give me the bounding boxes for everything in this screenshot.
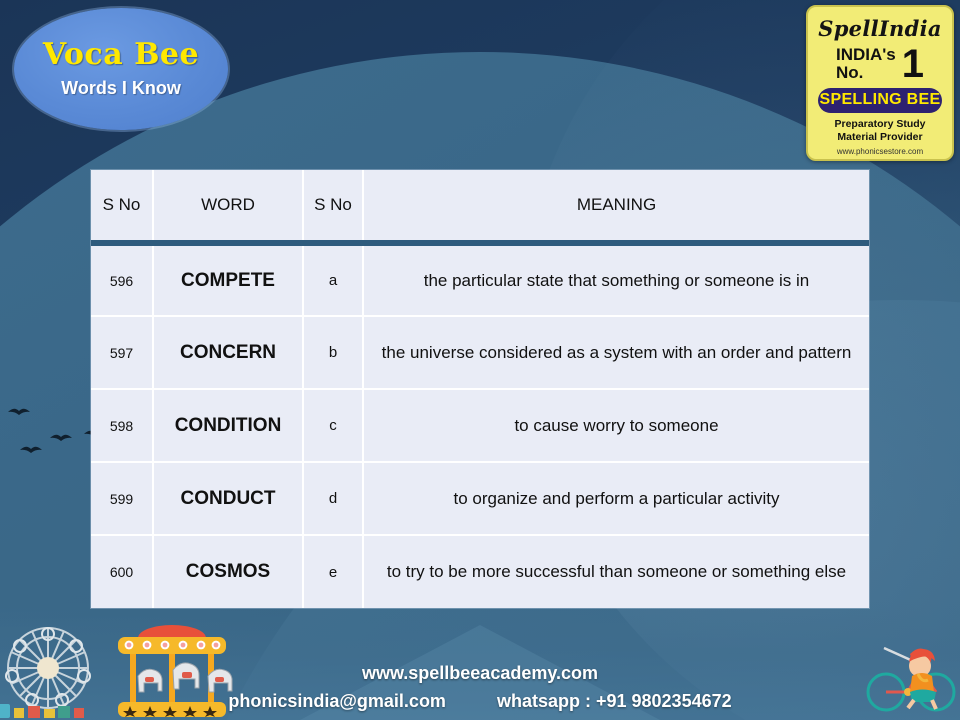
cell-key: d <box>303 462 363 535</box>
footer-whatsapp: whatsapp : +91 9802354672 <box>497 691 732 711</box>
cell-meaning: to organize and perform a particular act… <box>363 462 869 535</box>
column-header-word: WORD <box>153 170 303 243</box>
cell-sno: 600 <box>91 535 153 608</box>
column-header-meaning: MEANING <box>363 170 869 243</box>
cell-word: CONDITION <box>153 389 303 462</box>
badge-url: www.phonicsestore.com <box>814 147 946 156</box>
cell-word: CONCERN <box>153 316 303 389</box>
badge-brand-name: SpellIndia <box>814 16 946 41</box>
cell-sno: 597 <box>91 316 153 389</box>
cell-key: c <box>303 389 363 462</box>
slide-canvas: Voca Bee Words I Know SpellIndia INDIA's… <box>0 0 960 720</box>
table-row: 600 COSMOS e to try to be more successfu… <box>91 535 869 608</box>
table-row: 599 CONDUCT d to organize and perform a … <box>91 462 869 535</box>
badge-rank-row: INDIA's No. 1 <box>814 45 946 83</box>
footer-contact-row: phonicsindia@gmail.com whatsapp : +91 98… <box>0 691 960 712</box>
footer-website[interactable]: www.spellbeeacademy.com <box>0 663 960 684</box>
footer-contact: www.spellbeeacademy.com phonicsindia@gma… <box>0 663 960 712</box>
cell-key: b <box>303 316 363 389</box>
cell-meaning: to cause worry to someone <box>363 389 869 462</box>
badge-rank-words: INDIA's No. <box>836 46 896 82</box>
voca-bee-logo: Voca Bee Words I Know <box>14 8 228 130</box>
cell-meaning: the particular state that something or s… <box>363 243 869 316</box>
cell-sno: 596 <box>91 243 153 316</box>
cell-word: COMPETE <box>153 243 303 316</box>
badge-rank-line2: No. <box>836 64 896 82</box>
spellindia-badge: SpellIndia INDIA's No. 1 SPELLING BEE Pr… <box>806 5 954 161</box>
cell-sno: 598 <box>91 389 153 462</box>
cell-meaning: the universe considered as a system with… <box>363 316 869 389</box>
logo-subtitle: Words I Know <box>61 78 181 99</box>
badge-rank-number: 1 <box>902 45 924 83</box>
cell-sno: 599 <box>91 462 153 535</box>
cell-key: e <box>303 535 363 608</box>
cell-meaning: to try to be more successful than someon… <box>363 535 869 608</box>
table-row: 598 CONDITION c to cause worry to someon… <box>91 389 869 462</box>
table-header-row: S No WORD S No MEANING <box>91 170 869 243</box>
logo-title: Voca Bee <box>43 39 199 71</box>
badge-rank-line1: INDIA's <box>836 46 896 64</box>
column-header-sno2: S No <box>303 170 363 243</box>
cell-word: COSMOS <box>153 535 303 608</box>
badge-tagline: Preparatory Study Material Provider <box>814 118 946 144</box>
badge-spelling-bee-banner: SPELLING BEE <box>818 88 942 113</box>
footer-email[interactable]: phonicsindia@gmail.com <box>228 691 446 711</box>
column-header-sno: S No <box>91 170 153 243</box>
cell-key: a <box>303 243 363 316</box>
cell-word: CONDUCT <box>153 462 303 535</box>
vocabulary-table: S No WORD S No MEANING 596 COMPETE a the… <box>91 170 869 608</box>
table-row: 596 COMPETE a the particular state that … <box>91 243 869 316</box>
table-row: 597 CONCERN b the universe considered as… <box>91 316 869 389</box>
